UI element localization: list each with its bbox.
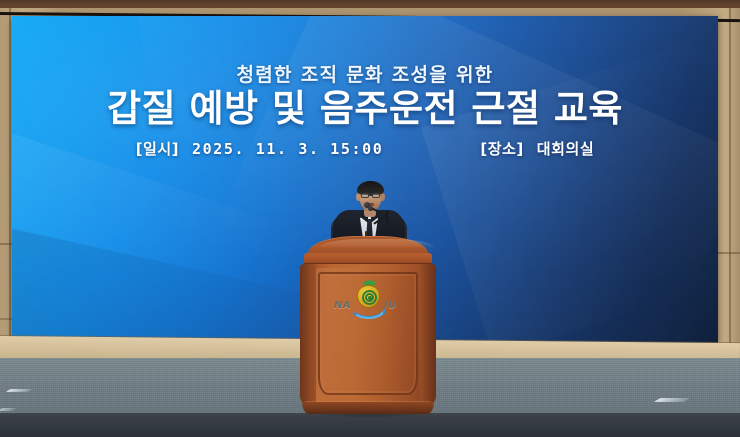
podium-right-post	[420, 264, 436, 406]
podium-arch-highlight	[319, 239, 435, 248]
emblem-blue-swoosh-inner	[352, 309, 385, 319]
speaker-glasses-bridge	[369, 195, 372, 196]
slide-date-label: [일시]	[136, 138, 179, 159]
emblem-center-dot	[368, 296, 372, 300]
slide-place-group: [장소] 대회의실	[480, 138, 594, 159]
naju-city-emblem: NA JU	[334, 278, 402, 322]
wall-panel-edge-left	[9, 8, 11, 360]
podium-base	[302, 402, 434, 414]
speaker-glasses-right-lens	[372, 193, 380, 198]
slide-main-title: 갑질 예방 및 음주운전 근절 교육	[12, 90, 718, 129]
photo-scene: 청렴한 조직 문화 조성을 위한 갑질 예방 및 음주운전 근절 교육 [일시]…	[0, 0, 740, 437]
microphone-stem	[386, 211, 388, 225]
slide-place-label: [장소]	[480, 138, 523, 159]
speaker-person	[331, 181, 407, 243]
slide-place-value: 대회의실	[537, 138, 595, 159]
wooden-podium: NA JU	[299, 236, 437, 414]
slide-date-group: [일시] 2025. 11. 3. 15:00	[136, 138, 384, 159]
wall-panel-edge-right	[729, 8, 731, 360]
slide-meta-row: [일시] 2025. 11. 3. 15:00 [장소] 대회의실	[12, 138, 718, 159]
slide-date-value: 2025. 11. 3. 15:00	[192, 140, 383, 158]
microphone-head-lower	[368, 206, 373, 211]
slide-subtitle: 청렴한 조직 문화 조성을 위한	[12, 60, 718, 87]
speaker-glasses-left-lens	[361, 193, 369, 198]
podium-left-post	[300, 264, 316, 406]
